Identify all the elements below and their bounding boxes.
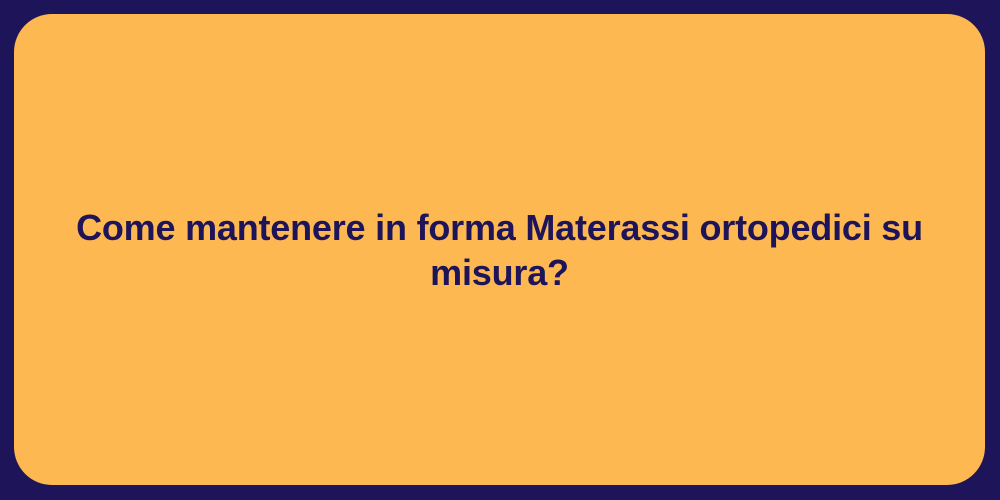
page-title: Come mantenere in forma Materassi ortope… (14, 205, 985, 295)
card-panel: Come mantenere in forma Materassi ortope… (14, 14, 985, 485)
card-frame: Come mantenere in forma Materassi ortope… (0, 0, 1000, 500)
